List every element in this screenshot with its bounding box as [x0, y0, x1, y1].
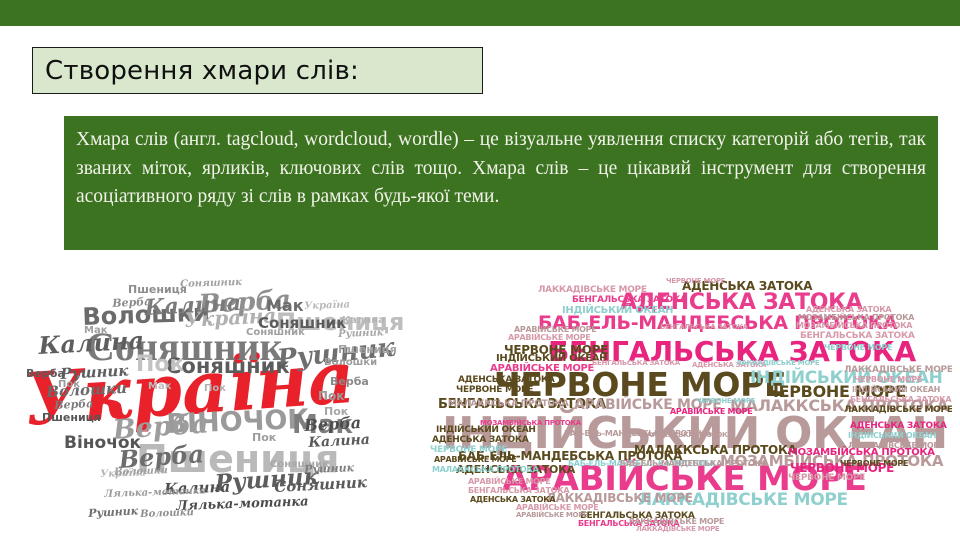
- cloud-word: АДЕНСЬКА ЗАТОКА: [458, 376, 555, 385]
- cloud-word: АДЕНСЬКА ЗАТОКА: [806, 306, 891, 314]
- cloud-word: ЛАККАДІВСЬКЕ МОРЕ: [848, 442, 944, 450]
- cloud-word: АДЕНСЬКА ЗАТОКА: [432, 436, 529, 445]
- cloud-word: ІНДІЙСЬКИЙ ОКЕАН: [562, 306, 673, 316]
- top-accent-bar: [0, 0, 960, 26]
- cloud-word: БЕНГАЛЬСЬКА ЗАТОКА: [800, 332, 915, 341]
- cloud-word: Рушник: [304, 462, 354, 475]
- indian-ocean-seas-word-cloud: ІНДІЙСЬКИЙ ОКЕАНАРАВІЙСЬКЕ МОРЕЧЕРВОНЕ М…: [420, 270, 952, 536]
- cloud-word: ЧЕРВОНЕ МОРЕ: [666, 278, 725, 285]
- cloud-word: Мак: [84, 326, 108, 336]
- cloud-word: ІНДІЙСЬКИЙ ОКЕАН: [852, 386, 940, 394]
- cloud-word: БАБ-ЕЛЬ-МАНДЕБСЬКА ПРОТОКА: [620, 460, 767, 468]
- cloud-word: ІНДІЙСЬКИЙ ОКЕАН: [436, 426, 536, 435]
- cloud-word: ЧЕРВОНЕ МОРЕ: [788, 474, 865, 483]
- cloud-word: Пок: [318, 390, 344, 402]
- cloud-word: Волошки: [324, 358, 377, 368]
- cloud-word: Пшениця: [42, 412, 101, 423]
- slide-title-box: Створення хмари слів:: [32, 47, 483, 94]
- cloud-word: Лялька-мотанка: [176, 495, 309, 513]
- cloud-word: Рушник: [338, 328, 384, 340]
- cloud-word: Соняшник: [180, 278, 242, 290]
- cloud-word: ЛАККАДІВСЬКЕ МОРЕ: [636, 526, 719, 533]
- cloud-word: ЧЕРВОНЕ МОРЕ: [696, 398, 755, 405]
- cloud-word: Калина: [308, 433, 370, 450]
- cloud-word: Соняшник: [274, 475, 367, 495]
- slide-canvas: Створення хмари слів: Хмара слів (англ. …: [0, 0, 960, 540]
- cloud-word: АРАВІЙСЬКЕ МОРЕ: [670, 408, 752, 416]
- cloud-word: Верба: [54, 398, 94, 411]
- cloud-word: Мак: [148, 382, 172, 392]
- cloud-word: МАЛАККСЬКА ПРОТОКА: [634, 444, 796, 456]
- cloud-word: Верба: [330, 376, 369, 387]
- cloud-word: ЧЕРВОНЕ МОРЕ: [840, 460, 908, 468]
- cloud-word: Волошки: [114, 466, 168, 478]
- cloud-word: ЧЕРВОНЕ МОРЕ: [824, 344, 892, 352]
- cloud-word: МАЛАККСЬКА ПРОТОКА: [432, 466, 539, 474]
- cloud-word: ІНДІЙСЬКИЙ ОКЕАН: [848, 432, 936, 440]
- cloud-word: Калина: [342, 316, 385, 326]
- cloud-word: Соняшник: [166, 356, 290, 377]
- cloud-word: МАЛАККСЬКА ПРОТОКА: [448, 400, 569, 409]
- cloud-word: БЕНГАЛЬСЬКА ЗАТОКА: [850, 396, 951, 404]
- cloud-word: Соняшник: [246, 328, 305, 338]
- cloud-word: ЛАККАДІВСЬКЕ МОРЕ: [538, 286, 647, 295]
- cloud-word: МОЗАМБІЙСЬКА ПРОТОКА: [480, 420, 581, 427]
- page-title: Створення хмари слів:: [33, 56, 359, 86]
- cloud-word: АДЕНСЬКА ЗАТОКА: [850, 422, 947, 431]
- cloud-word: МАЛАККСЬКА ПРОТОКА: [640, 432, 733, 439]
- cloud-word: МОЗАМБІЙСЬКА ПРОТОКА: [796, 322, 912, 330]
- definition-paragraph: Хмара слів (англ. tagcloud, wordcloud, w…: [76, 126, 926, 212]
- cloud-word: Пок: [136, 354, 184, 376]
- cloud-word: Пок: [252, 432, 276, 443]
- cloud-word: ЧЕРВОНЕ МОРЕ: [430, 446, 507, 455]
- cloud-word: ЧЕРВОНЕ МОРЕ: [456, 386, 533, 395]
- cloud-word: Пок: [324, 406, 348, 417]
- cloud-word: АРАВІЙСЬКЕ МОРЕ: [508, 334, 590, 342]
- cloud-word: БЕНГАЛЬСЬКА ЗАТОКА: [572, 296, 687, 305]
- cloud-word: ЛАККАДІВСЬКЕ МОРЕ: [736, 360, 819, 367]
- cloud-word: ЛАККАДІВСЬКЕ МОРЕ: [844, 406, 952, 415]
- cloud-word: Віночок: [64, 435, 141, 452]
- cloud-word: БЕНГАЛЬСЬКА ЗАТОКА: [468, 487, 569, 495]
- cloud-word: Волошки: [140, 508, 194, 520]
- cloud-word: Пок: [204, 384, 226, 394]
- cloud-word: БЕНГАЛЬСЬКА ЗАТОКА: [592, 360, 680, 367]
- cloud-word: ЧЕРВОНЕ МОРЕ: [854, 376, 922, 384]
- cloud-word: Рушник: [88, 505, 138, 519]
- cloud-word: Пшениця: [128, 284, 187, 295]
- cloud-word: Верба: [112, 296, 152, 309]
- cloud-word: АРАВІЙСЬКЕ МОРЕ: [516, 512, 588, 519]
- cloud-word: АРАВІЙСЬКЕ МОРЕ: [490, 364, 594, 374]
- cloud-word: АРАВІЙСЬКЕ МОРЕ: [514, 326, 596, 334]
- cloud-word: Мак: [266, 298, 304, 314]
- cloud-word: Пок: [58, 380, 80, 390]
- definition-panel: Хмара слів (англ. tagcloud, wordcloud, w…: [64, 116, 938, 250]
- ukraine-symbols-word-cloud: УкраїнаСоняшникПшеницяПшеницяВІНОЧОКМакР…: [8, 272, 406, 536]
- cloud-word: МОЗАМБІЙСЬКА ПРОТОКА: [798, 314, 914, 322]
- cloud-word: Пшениця: [338, 344, 397, 355]
- cloud-word: АРАВІЙСЬКЕ МОРЕ: [434, 456, 516, 464]
- cloud-word: АРАВІЙСЬКЕ МОРЕ: [468, 478, 550, 486]
- cloud-word: Україна: [304, 300, 350, 312]
- cloud-word: Верба: [26, 368, 65, 379]
- cloud-word: ЛАККАДІВСЬКЕ МОРЕ: [844, 366, 952, 375]
- cloud-word: БЕНГАЛЬСЬКА ЗАТОКА: [660, 324, 748, 331]
